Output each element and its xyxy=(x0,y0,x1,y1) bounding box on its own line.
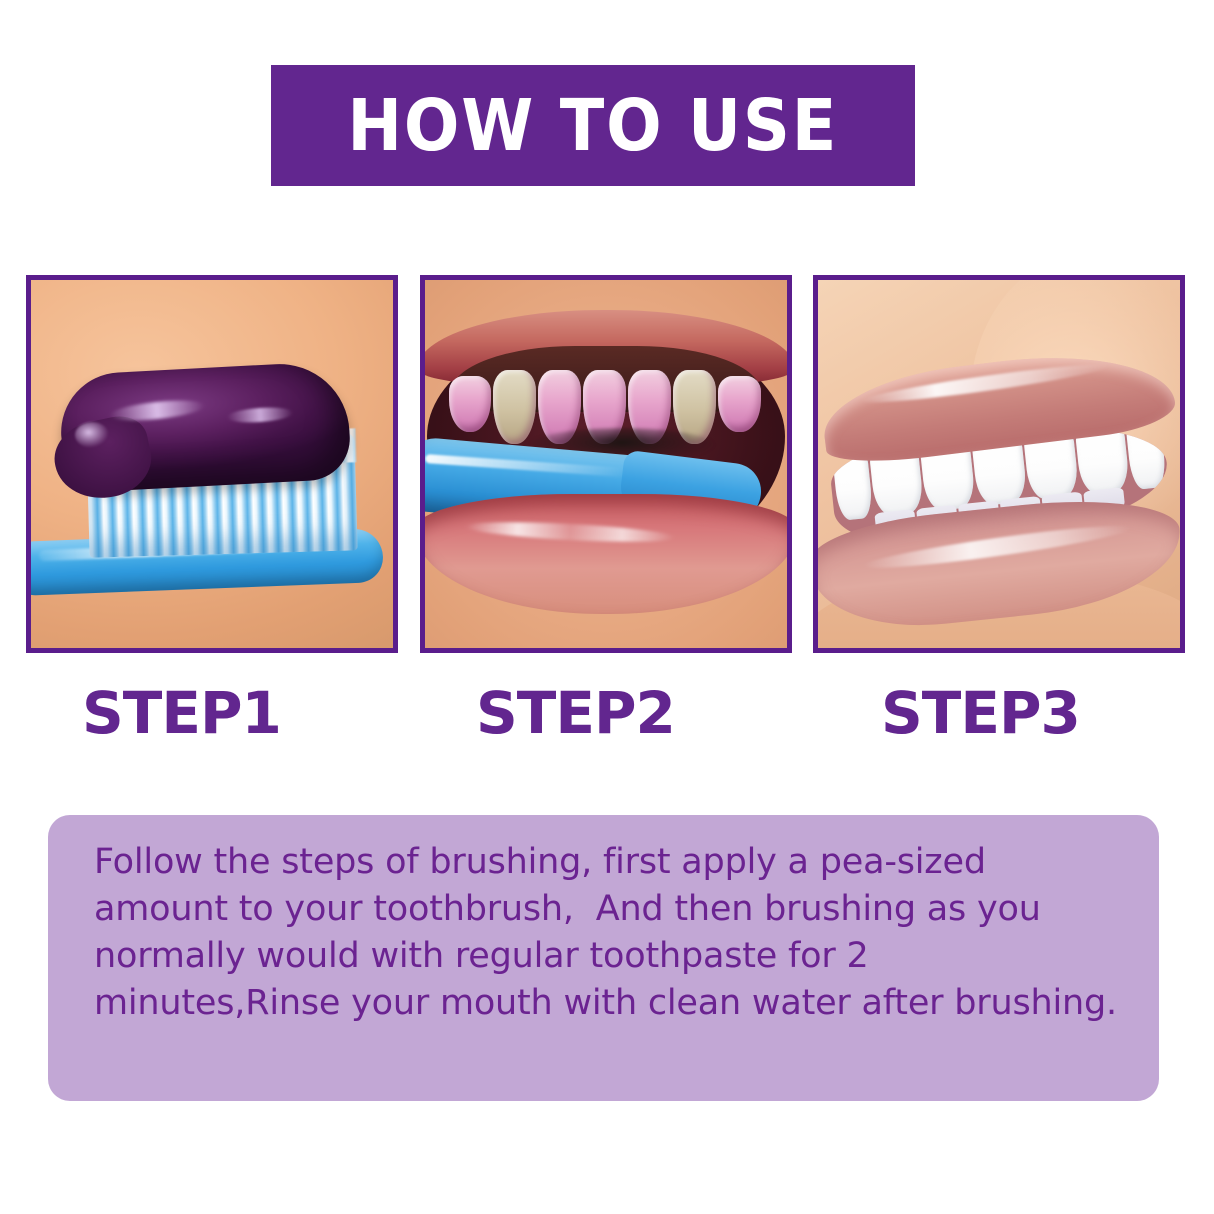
step-2-image xyxy=(425,280,787,648)
instructions-text: Follow the steps of brushing, first appl… xyxy=(94,839,1117,1027)
step-1-image xyxy=(31,280,393,648)
step-3-photo-frame xyxy=(813,275,1185,653)
tooth xyxy=(449,376,492,432)
tooth xyxy=(832,452,873,521)
tooth xyxy=(1126,421,1167,490)
tooth xyxy=(493,370,536,444)
instructions-panel: Follow the steps of brushing, first appl… xyxy=(48,815,1159,1101)
tooth xyxy=(718,376,761,432)
how-to-use-banner: HOW TO USE xyxy=(271,65,915,186)
step-2-photo-frame xyxy=(420,275,792,653)
step-captions: STEP1 STEP2 STEP3 xyxy=(26,678,1185,748)
step-1-photo-frame xyxy=(26,275,398,653)
page-title: HOW TO USE xyxy=(348,90,839,161)
step-photos-row xyxy=(26,275,1185,653)
step-2-label: STEP2 xyxy=(476,678,675,748)
banner-background: HOW TO USE xyxy=(271,65,915,186)
step-3-image xyxy=(818,280,1180,648)
step-3-label: STEP3 xyxy=(881,678,1080,748)
paste-highlight-c xyxy=(75,422,109,448)
step-1-label: STEP1 xyxy=(82,678,281,748)
